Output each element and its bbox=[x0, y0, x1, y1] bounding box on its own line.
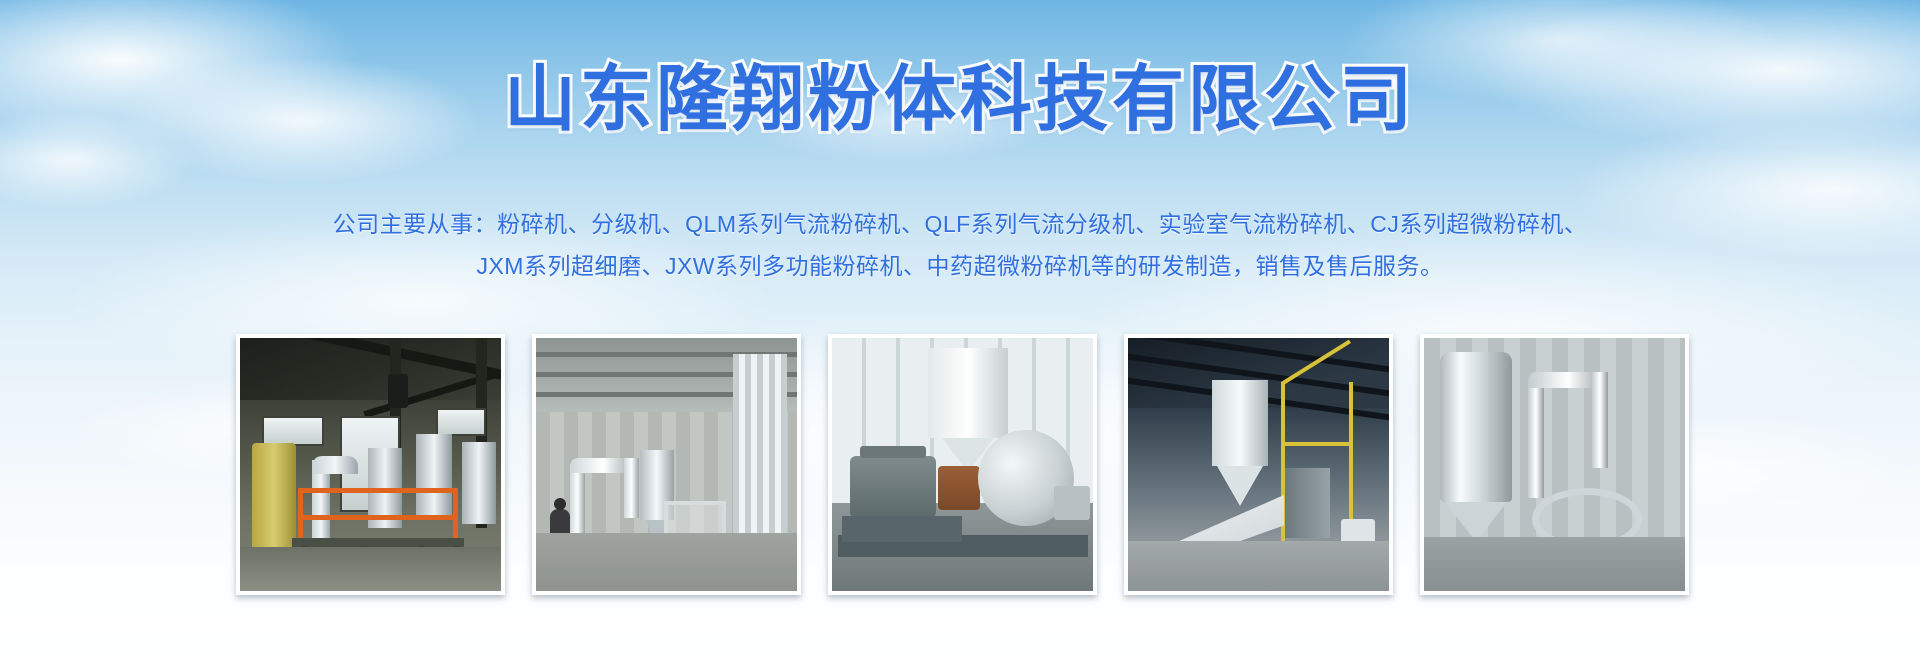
cyclone-separator bbox=[462, 442, 496, 524]
hopper bbox=[928, 348, 1008, 438]
floor bbox=[1424, 537, 1685, 591]
window bbox=[436, 408, 486, 436]
photo-4-scene bbox=[1128, 338, 1389, 591]
photo-workshop-ducting[interactable] bbox=[532, 334, 801, 595]
silo-tank bbox=[1212, 380, 1268, 466]
photo-2-scene bbox=[536, 338, 797, 591]
coupling-gearbox bbox=[938, 466, 980, 510]
photo-3-scene bbox=[832, 338, 1093, 591]
company-description: 公司主要从事：粉碎机、分级机、QLM系列气流粉碎机、QLF系列气流分级机、实验室… bbox=[0, 203, 1920, 287]
duct-elbow bbox=[312, 456, 358, 474]
product-photo-gallery bbox=[236, 334, 1726, 602]
stainless-vessel bbox=[1440, 352, 1512, 502]
photo-1-scene bbox=[240, 338, 501, 591]
floor bbox=[536, 533, 797, 591]
photo-stainless-vessel[interactable] bbox=[1420, 334, 1689, 595]
yellow-silo bbox=[252, 443, 296, 553]
photo-production-line[interactable] bbox=[1124, 334, 1393, 595]
photo-workshop-jet-mill[interactable] bbox=[236, 334, 505, 595]
hero-banner: 山东隆翔粉体科技有限公司 公司主要从事：粉碎机、分级机、QLM系列气流粉碎机、Q… bbox=[0, 0, 1920, 667]
company-description-line-2: JXM系列超细磨、JXW系列多功能粉碎机、中药超微粉碎机等的研发制造，销售及售后… bbox=[0, 245, 1920, 287]
blower-volute bbox=[978, 430, 1074, 526]
tall-column-unit bbox=[733, 354, 787, 534]
motor bbox=[388, 374, 408, 408]
photo-blower-motor[interactable] bbox=[828, 334, 1097, 595]
pipe bbox=[1528, 378, 1544, 498]
window bbox=[262, 416, 324, 446]
floor bbox=[1128, 541, 1389, 591]
orange-handrail bbox=[298, 488, 458, 540]
photo-5-scene bbox=[1424, 338, 1685, 591]
motor-base bbox=[842, 516, 962, 542]
electric-motor bbox=[850, 456, 936, 518]
pipe bbox=[1592, 372, 1608, 468]
company-description-line-1: 公司主要从事：粉碎机、分级机、QLM系列气流粉碎机、QLF系列气流分级机、实验室… bbox=[0, 203, 1920, 245]
duct-pipe bbox=[624, 458, 639, 518]
page-title: 山东隆翔粉体科技有限公司 bbox=[0, 60, 1920, 141]
floor bbox=[240, 547, 501, 591]
